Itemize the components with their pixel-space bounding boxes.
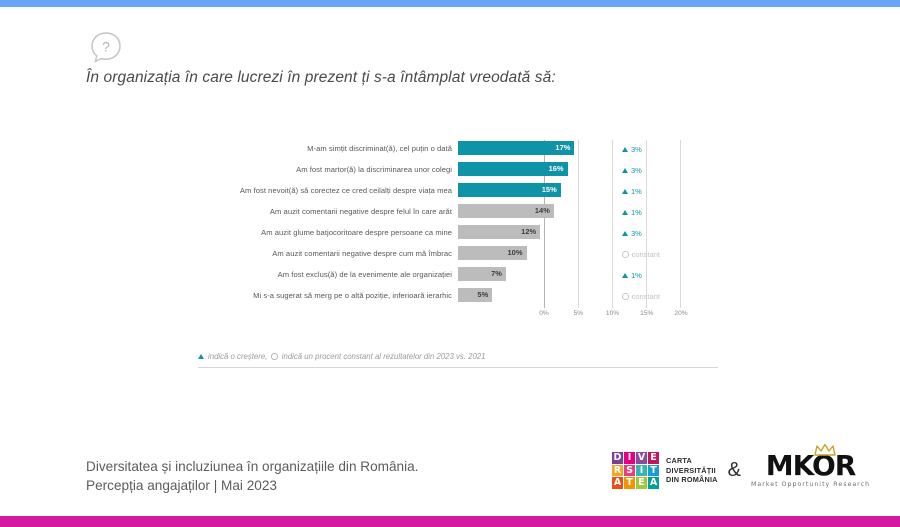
chart-footnote: indică o creștere, indică un procent con… bbox=[198, 352, 718, 368]
constant-circle-icon bbox=[622, 293, 629, 300]
chart-row: Am fost exclus(ă) de la evenimente ale o… bbox=[86, 266, 716, 285]
category-label: Am fost exclus(ă) de la evenimente ale o… bbox=[86, 271, 458, 279]
bar: 16% bbox=[458, 162, 568, 176]
footer-line-1: Diversitatea și incluziunea în organizaț… bbox=[86, 457, 418, 476]
cdr-logo-tiles: DIVERSITATEA bbox=[612, 452, 659, 489]
bar: 14% bbox=[458, 204, 554, 218]
x-tick-label: 0% bbox=[539, 310, 549, 317]
category-label: M-am simțit discriminat(ă), cel puțin o … bbox=[86, 145, 458, 153]
mkor-tagline: Market Opportunity Research bbox=[751, 481, 870, 488]
delta-label: constant bbox=[632, 250, 660, 259]
slide-root: ? În organizația în care lucrezi în prez… bbox=[0, 0, 900, 527]
increase-triangle-icon bbox=[622, 210, 628, 215]
delta-label: 1% bbox=[631, 271, 642, 280]
mkor-wordmark: MKOR bbox=[766, 452, 856, 480]
cdr-logo-tile: E bbox=[636, 477, 647, 489]
delta-indicator: 3% bbox=[610, 229, 710, 238]
category-label: Am auzit glume batjocoritoare despre per… bbox=[86, 229, 458, 237]
increase-triangle-icon bbox=[198, 354, 204, 359]
chart-row: M-am simțit discriminat(ă), cel puțin o … bbox=[86, 140, 716, 159]
bar-track: 5% bbox=[458, 287, 610, 306]
cdr-logo-tile: E bbox=[648, 452, 659, 464]
mkor-logo: MKOR Market Opportunity Research bbox=[751, 452, 870, 488]
question-speech-bubble-icon: ? bbox=[88, 29, 124, 65]
footnote-increase-text: indică o creștere, bbox=[208, 352, 267, 361]
cdr-logo-tile: D bbox=[612, 452, 623, 464]
bar-value-label: 17% bbox=[555, 144, 574, 152]
cdr-logo-tile: T bbox=[624, 477, 635, 489]
bar-track: 15% bbox=[458, 182, 610, 201]
chart-row: Am fost nevoit(ă) să corectez ce cred ce… bbox=[86, 182, 716, 201]
delta-label: 1% bbox=[631, 187, 642, 196]
bar-track: 12% bbox=[458, 224, 610, 243]
bar-value-label: 5% bbox=[477, 291, 492, 299]
footer-line-2: Percepția angajaților | Mai 2023 bbox=[86, 476, 418, 495]
cdr-logo-tile: S bbox=[624, 465, 635, 477]
chart-row: Mi s-a sugerat să merg pe o altă poziție… bbox=[86, 287, 716, 306]
cdr-logo-tile: A bbox=[648, 477, 659, 489]
bar-value-label: 15% bbox=[542, 186, 561, 194]
delta-indicator: constant bbox=[610, 292, 710, 301]
carta-diversitatii-logo: DIVERSITATEA CARTA DIVERSITĂȚII DIN ROMÂ… bbox=[612, 452, 718, 489]
bar-track: 7% bbox=[458, 266, 610, 285]
bar: 5% bbox=[458, 288, 492, 302]
delta-indicator: 1% bbox=[610, 187, 710, 196]
bar: 17% bbox=[458, 141, 574, 155]
bar-track: 10% bbox=[458, 245, 610, 264]
delta-label: 3% bbox=[631, 229, 642, 238]
category-label: Am auzit comentarii negative despre felu… bbox=[86, 208, 458, 216]
chart-row: Am fost martor(ă) la discriminarea unor … bbox=[86, 161, 716, 180]
cdr-text-line-3: DIN ROMÂNIA bbox=[666, 475, 718, 485]
cdr-logo-text: CARTA DIVERSITĂȚII DIN ROMÂNIA bbox=[666, 456, 718, 485]
bottom-accent-bar bbox=[0, 516, 900, 527]
footer-logos: DIVERSITATEA CARTA DIVERSITĂȚII DIN ROMÂ… bbox=[612, 452, 870, 489]
x-tick-label: 10% bbox=[606, 310, 619, 317]
chart-rows: M-am simțit discriminat(ă), cel puțin o … bbox=[86, 140, 716, 306]
delta-label: constant bbox=[632, 292, 660, 301]
crown-icon bbox=[814, 443, 836, 461]
chart-row: Am auzit glume batjocoritoare despre per… bbox=[86, 224, 716, 243]
delta-label: 3% bbox=[631, 166, 642, 175]
constant-circle-icon bbox=[622, 251, 629, 258]
bar-track: 17% bbox=[458, 140, 610, 159]
cdr-logo-tile: A bbox=[612, 477, 623, 489]
x-axis-tick-labels: 0%5%10%15%20% bbox=[516, 310, 716, 324]
svg-text:?: ? bbox=[102, 39, 110, 55]
bar: 15% bbox=[458, 183, 561, 197]
delta-label: 1% bbox=[631, 208, 642, 217]
cdr-text-line-2: DIVERSITĂȚII bbox=[666, 466, 718, 476]
bar-value-label: 7% bbox=[491, 270, 506, 278]
increase-triangle-icon bbox=[622, 189, 628, 194]
bar: 12% bbox=[458, 225, 540, 239]
category-label: Am fost martor(ă) la discriminarea unor … bbox=[86, 166, 458, 174]
delta-label: 3% bbox=[631, 145, 642, 154]
delta-indicator: 3% bbox=[610, 166, 710, 175]
bar-value-label: 12% bbox=[521, 228, 540, 236]
footnote-constant-text: indică un procent constant al rezultatel… bbox=[282, 352, 486, 361]
category-label: Am auzit comentarii negative despre cum … bbox=[86, 250, 458, 258]
bar-value-label: 14% bbox=[535, 207, 554, 215]
page-title: În organizația în care lucrezi în prezen… bbox=[86, 68, 806, 88]
cdr-logo-tile: I bbox=[636, 465, 647, 477]
increase-triangle-icon bbox=[622, 273, 628, 278]
bar-chart: M-am simțit discriminat(ă), cel puțin o … bbox=[86, 140, 716, 385]
footer-report-title: Diversitatea și incluziunea în organizaț… bbox=[86, 457, 418, 496]
bar: 10% bbox=[458, 246, 527, 260]
x-tick-label: 5% bbox=[573, 310, 583, 317]
cdr-logo-tile: V bbox=[636, 452, 647, 464]
footnote-divider bbox=[198, 367, 718, 368]
constant-circle-icon bbox=[271, 353, 277, 359]
cdr-text-line-1: CARTA bbox=[666, 456, 718, 466]
bar-track: 16% bbox=[458, 161, 610, 180]
category-label: Am fost nevoit(ă) să corectez ce cred ce… bbox=[86, 187, 458, 195]
delta-indicator: constant bbox=[610, 250, 710, 259]
chart-row: Am auzit comentarii negative despre felu… bbox=[86, 203, 716, 222]
cdr-logo-tile: I bbox=[624, 452, 635, 464]
cdr-logo-tile: R bbox=[612, 465, 623, 477]
top-accent-bar bbox=[0, 0, 900, 7]
bar-value-label: 16% bbox=[549, 165, 568, 173]
x-tick-label: 15% bbox=[640, 310, 653, 317]
x-tick-label: 20% bbox=[674, 310, 687, 317]
ampersand-separator: & bbox=[725, 459, 744, 482]
bar-track: 14% bbox=[458, 203, 610, 222]
increase-triangle-icon bbox=[622, 168, 628, 173]
delta-indicator: 1% bbox=[610, 208, 710, 217]
cdr-logo-tile: T bbox=[648, 465, 659, 477]
bar-value-label: 10% bbox=[507, 249, 526, 257]
bar: 7% bbox=[458, 267, 506, 281]
chart-row: Am auzit comentarii negative despre cum … bbox=[86, 245, 716, 264]
category-label: Mi s-a sugerat să merg pe o altă poziție… bbox=[86, 292, 458, 300]
delta-indicator: 3% bbox=[610, 145, 710, 154]
delta-indicator: 1% bbox=[610, 271, 710, 280]
increase-triangle-icon bbox=[622, 147, 628, 152]
increase-triangle-icon bbox=[622, 231, 628, 236]
